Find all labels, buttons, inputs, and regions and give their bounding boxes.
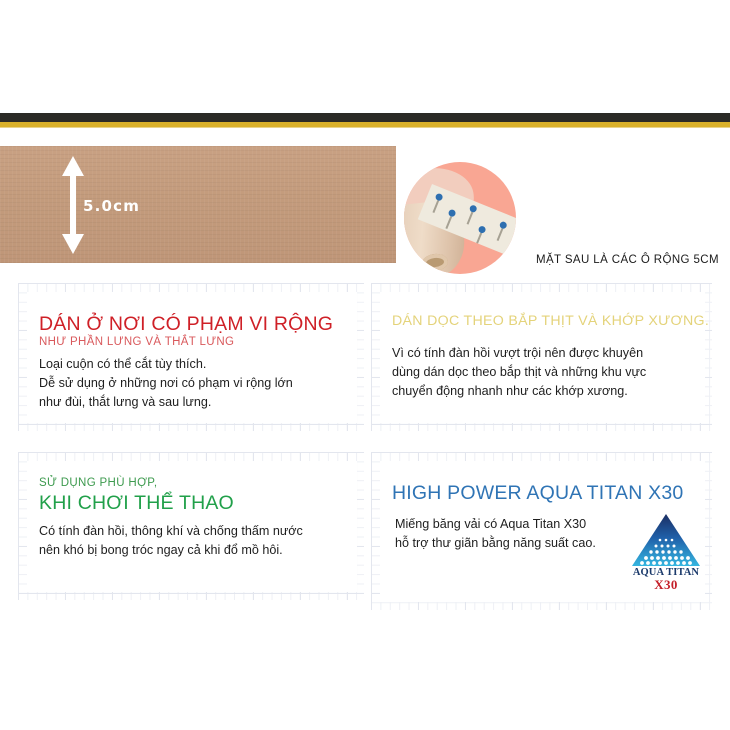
card-along-muscle: DÁN DỌC THEO BẮP THỊT VÀ KHỚP XƯƠNG. Vì …	[380, 292, 705, 423]
top-dark-divider	[0, 113, 730, 122]
card-sports-body: Có tính đàn hồi, thông khí và chống thấm…	[39, 522, 357, 560]
roll-caption-text: MẶT SAU LÀ CÁC Ô RỘNG 5CM	[536, 254, 719, 266]
card-aqua-titan-body: Miếng băng vải có Aqua Titan X30 hỗ trợ …	[395, 515, 625, 553]
card-aqua-titan-heading: HIGH POWER AQUA TITAN X30	[392, 483, 683, 504]
tape-dimension-label: 5.0cm	[83, 197, 140, 215]
tape-roll-photo	[404, 162, 516, 274]
tape-strip-image: 5.0cm	[0, 146, 396, 263]
card-wide-area-body: Loại cuộn có thể cắt tùy thích. Dễ sử dụ…	[39, 355, 355, 412]
card-sports-heading: KHI CHƠI THỂ THAO	[39, 493, 234, 514]
top-gold-divider-thin	[0, 127, 730, 128]
card-sports: SỬ DỤNG PHÙ HỢP, KHI CHƠI THỂ THAO Có tí…	[27, 461, 357, 592]
aqua-titan-triangle-icon	[630, 512, 702, 568]
card-along-muscle-heading: DÁN DỌC THEO BẮP THỊT VÀ KHỚP XƯƠNG.	[392, 314, 709, 329]
card-along-muscle-body: Vì có tính đàn hồi vượt trội nên được kh…	[392, 344, 704, 401]
card-sports-subheading: SỬ DỤNG PHÙ HỢP,	[39, 477, 157, 490]
aqua-titan-variant: X30	[630, 577, 702, 593]
card-wide-area: DÁN Ở NƠI CÓ PHẠM VI RỘNG NHƯ PHẦN LƯNG …	[27, 292, 357, 423]
aqua-titan-logo: AQUA TITAN X30	[630, 512, 702, 590]
card-wide-area-heading: DÁN Ở NƠI CÓ PHẠM VI RỘNG	[39, 314, 333, 335]
card-wide-area-subheading: NHƯ PHẦN LƯNG VÀ THẮT LƯNG	[39, 336, 234, 349]
